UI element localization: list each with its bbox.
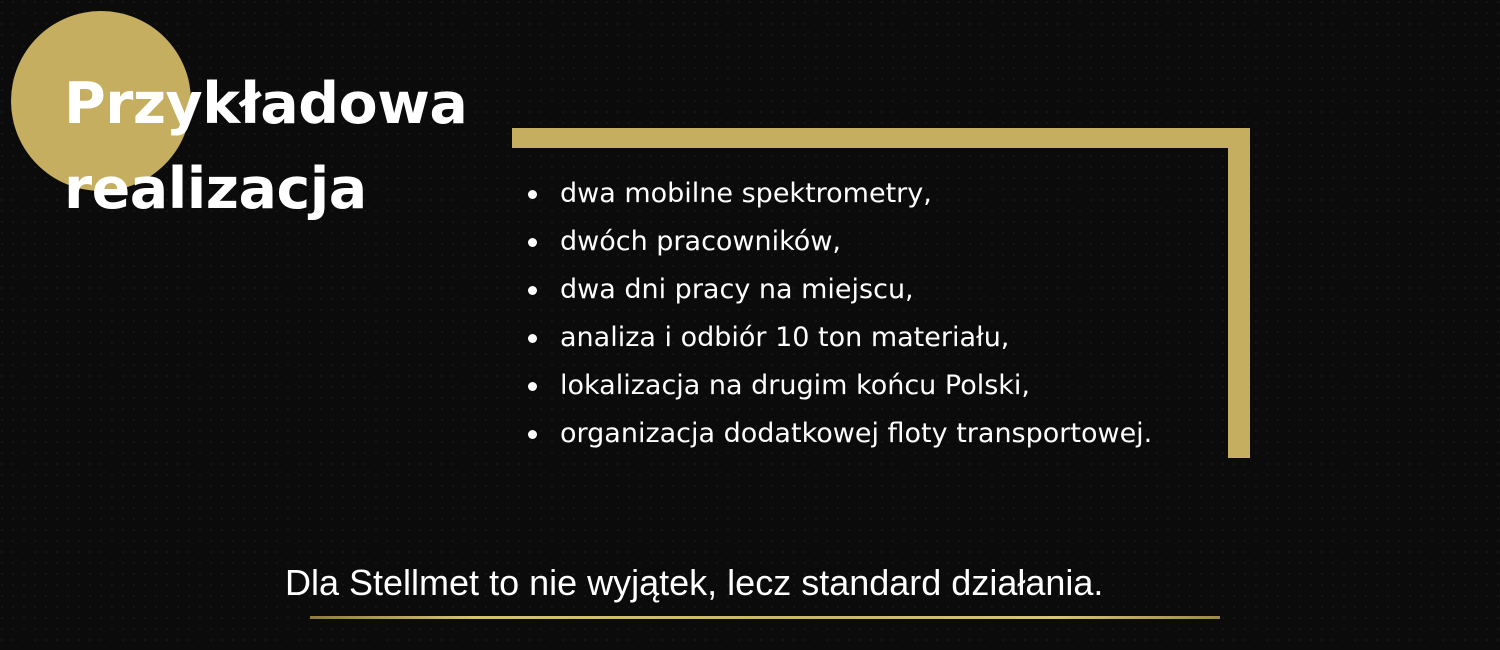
slide: Przykładowa realizacja dwa mobilne spekt… bbox=[0, 0, 1500, 650]
list-item-label: dwa mobilne spektrometry, bbox=[560, 178, 932, 209]
list-item: lokalizacja na drugim końcu Polski, bbox=[524, 362, 1224, 410]
footer-caption-underline bbox=[310, 616, 1220, 619]
bullet-dot-icon bbox=[528, 190, 537, 199]
bullet-dot-icon bbox=[528, 286, 537, 295]
page-title-line-2: realizacja bbox=[64, 147, 494, 232]
bullet-list: dwa mobilne spektrometry, dwóch pracowni… bbox=[524, 170, 1224, 458]
list-item: analiza i odbiór 10 ton materiału, bbox=[524, 314, 1224, 362]
list-item-label: analiza i odbiór 10 ton materiału, bbox=[560, 322, 1009, 353]
gold-frame-top-bar bbox=[512, 128, 1250, 148]
bullet-dot-icon bbox=[528, 430, 537, 439]
list-item: dwóch pracowników, bbox=[524, 218, 1224, 266]
list-item-label: dwa dni pracy na miejscu, bbox=[560, 274, 914, 305]
bullet-dot-icon bbox=[528, 238, 537, 247]
page-title-line-1: Przykładowa bbox=[64, 62, 494, 147]
list-item-label: dwóch pracowników, bbox=[560, 226, 841, 257]
page-title: Przykładowa realizacja bbox=[64, 62, 494, 232]
gold-frame-right-bar bbox=[1228, 128, 1250, 458]
footer-caption: Dla Stellmet to nie wyjątek, lecz standa… bbox=[285, 560, 1225, 606]
list-item-label: lokalizacja na drugim końcu Polski, bbox=[560, 370, 1030, 401]
bullet-dot-icon bbox=[528, 382, 537, 391]
bullet-dot-icon bbox=[528, 334, 537, 343]
list-item-label: organizacja dodatkowej floty transportow… bbox=[560, 418, 1152, 449]
list-item: dwa mobilne spektrometry, bbox=[524, 170, 1224, 218]
list-item: organizacja dodatkowej floty transportow… bbox=[524, 410, 1224, 458]
list-item: dwa dni pracy na miejscu, bbox=[524, 266, 1224, 314]
